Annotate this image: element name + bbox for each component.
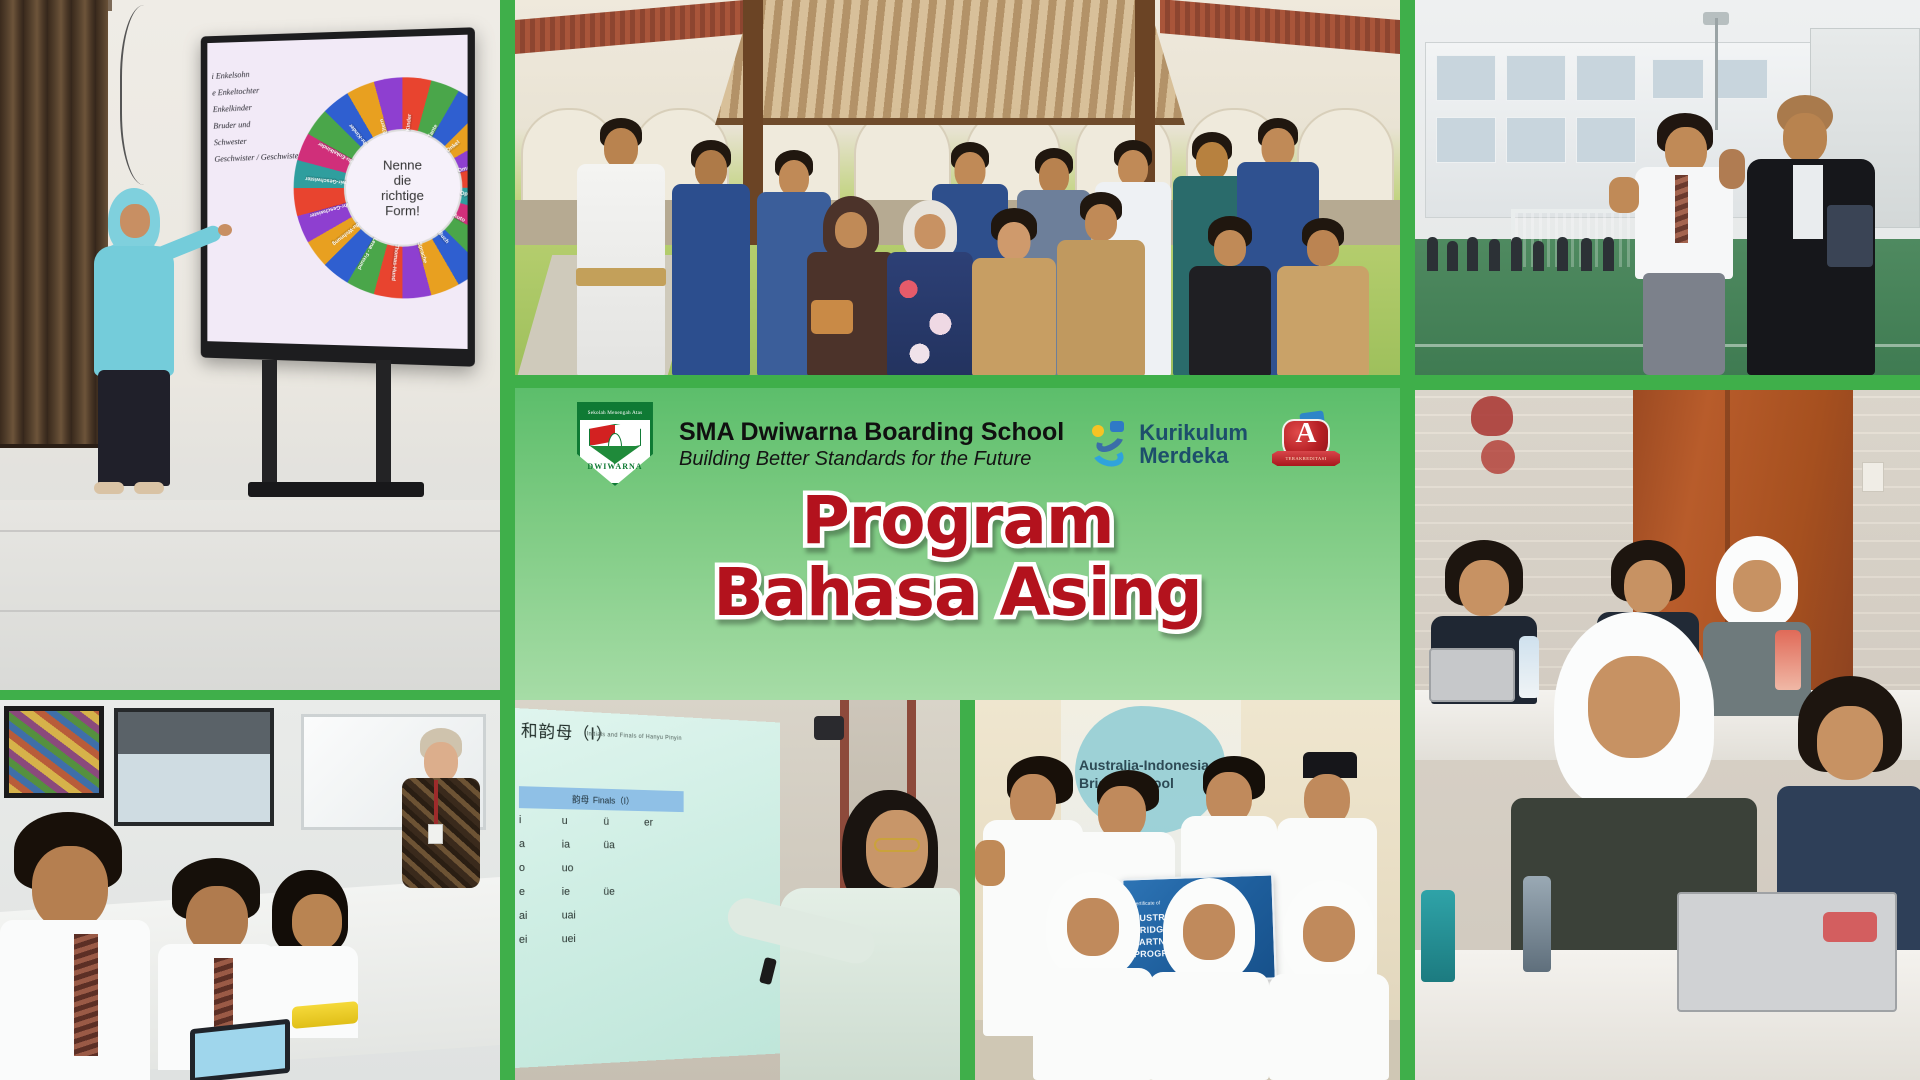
brand-bar: Sekolah Menengah Atas DWIWARNA SMA Dwiwa… xyxy=(515,402,1400,486)
projection-screen: 和韵母（I） Initials and Finals of Hanyu Piny… xyxy=(515,708,780,1068)
photo-japan-school-visit xyxy=(1415,0,1920,375)
laptop-sticker xyxy=(1823,912,1877,942)
table-header-zh: 韵母 xyxy=(572,792,589,805)
pinyin-cell: o xyxy=(519,856,562,880)
pinyin-cell xyxy=(644,926,684,950)
student-black-shirt xyxy=(1187,216,1273,375)
pinyin-row: aiuai xyxy=(519,903,684,928)
photo-german-class: i Enkelsohn e Enkeltochter Enkelkinder B… xyxy=(0,0,500,690)
teacher-japanese xyxy=(970,208,1058,375)
shield-arc-text: DWIWARNA xyxy=(577,462,653,471)
student-uniform-khaki-2 xyxy=(1275,218,1371,375)
pinyin-cell: üe xyxy=(603,880,644,903)
student-hijab-3 xyxy=(1267,880,1391,1080)
pinyin-cell xyxy=(603,857,644,880)
pendopo-ceiling xyxy=(715,0,1185,125)
student-yukata-2 xyxy=(670,140,752,375)
poster-canvas: i Enkelsohn e Enkeltochter Enkelkinder B… xyxy=(0,0,1920,1080)
km-line1: Kurikulum xyxy=(1139,421,1248,444)
kurikulum-merdeka-mark-icon xyxy=(1090,420,1132,468)
interactive-whiteboard: i Enkelsohn e Enkeltochter Enkelkinder B… xyxy=(201,27,475,367)
pinyin-row: eiuei xyxy=(519,926,684,952)
title-line-2: Bahasa Asing xyxy=(515,560,1400,626)
school-tagline: Building Better Standards for the Future xyxy=(679,447,1064,471)
student-uniform-khaki-1 xyxy=(1055,192,1147,375)
pinyin-cell: ei xyxy=(519,927,562,951)
title-line-1: Program xyxy=(801,482,1113,559)
student-hijab-2 xyxy=(1147,878,1271,1080)
floor xyxy=(0,500,500,690)
wall-decoration-2 xyxy=(1481,440,1515,474)
pinyin-cell: ü xyxy=(603,810,644,834)
whiteboard-stand xyxy=(248,360,418,500)
school-logo-shield: Sekolah Menengah Atas DWIWARNA xyxy=(577,402,653,486)
pinyin-cell: e xyxy=(519,880,562,904)
accreditation-grade: A xyxy=(1274,417,1338,450)
kurikulum-merdeka-logo: Kurikulum Merdeka xyxy=(1090,420,1248,468)
school-name: SMA Dwiwarna Boarding School xyxy=(679,418,1064,447)
wall-speaker xyxy=(814,716,844,740)
wall-poster xyxy=(4,706,104,798)
pinyin-cell: uei xyxy=(562,927,604,951)
title-panel: Sekolah Menengah Atas DWIWARNA SMA Dwiwa… xyxy=(515,388,1400,700)
pinyin-row: ouo xyxy=(519,856,684,880)
pinyin-cell: ai xyxy=(519,904,562,928)
shield-cap-text: Sekolah Menengah Atas xyxy=(580,405,650,420)
pinyin-cell: ia xyxy=(562,833,604,857)
student-kimono-floral xyxy=(885,200,975,375)
accreditation-ribbon: TERAKREDITASI xyxy=(1272,451,1340,466)
spectators xyxy=(1421,215,1621,271)
guest-teacher xyxy=(396,728,486,918)
pinyin-cell xyxy=(603,926,644,950)
pinyin-cell: a xyxy=(519,832,562,856)
pinyin-row: eieüe xyxy=(519,880,684,904)
pinyin-cell: uai xyxy=(562,904,604,928)
pinyin-cell: uo xyxy=(562,856,604,880)
photo-exchange-classroom xyxy=(1415,390,1920,1080)
pinyin-cell: üa xyxy=(603,834,644,858)
student-front xyxy=(0,812,150,1080)
pinyin-cell: u xyxy=(562,809,604,833)
mandarin-teacher xyxy=(770,780,960,1080)
photo-japanese-yukata-group xyxy=(515,0,1400,375)
school-official xyxy=(1741,95,1891,375)
accreditation-badge: A TERAKREDITASI xyxy=(1274,413,1338,475)
german-teacher xyxy=(86,188,218,498)
pinyin-cell: ie xyxy=(562,880,604,904)
km-line2: Merdeka xyxy=(1139,444,1248,467)
pinyin-row: iuüer xyxy=(519,808,684,835)
brand-text-block: SMA Dwiwarna Boarding School Building Be… xyxy=(679,418,1064,471)
pinyin-cell: er xyxy=(644,811,684,835)
water-bottle-teal xyxy=(1421,890,1455,982)
laptop-back xyxy=(1429,648,1515,702)
pinyin-cell xyxy=(644,834,684,857)
pinyin-cell xyxy=(603,903,644,927)
photo-australia-indonesia-program: Australia-Indonesia Bridge School xyxy=(975,700,1400,1080)
power-cable xyxy=(120,5,180,185)
table-header-en: Finals（I） xyxy=(593,793,634,807)
tablet-device xyxy=(190,1019,290,1080)
whiteboard-screen: i Enkelsohn e Enkeltochter Enkelkinder B… xyxy=(207,35,467,349)
spinner-wheel: Nenne die richtige Form! Thomas-HundLena… xyxy=(294,75,468,301)
pinyin-cell xyxy=(644,857,684,880)
student-hijab-brown xyxy=(805,196,897,375)
pinyin-row: aiaüa xyxy=(519,832,684,858)
photo-mandarin-class: 和韵母（I） Initials and Finals of Hanyu Piny… xyxy=(515,700,960,1080)
window xyxy=(114,708,274,826)
page-title: Program Bahasa Asing xyxy=(515,488,1400,626)
pinyin-table-body: iuüeraiaüaouoeieüeaiuaieiuei xyxy=(519,808,684,952)
student-yukata-1 xyxy=(575,118,667,375)
pinyin-cell: i xyxy=(519,808,562,833)
slide-title-chinese: 和韵母（I） xyxy=(521,716,613,745)
light-switch xyxy=(1862,462,1884,492)
wall-decoration-1 xyxy=(1471,396,1513,436)
laptop-front xyxy=(1677,892,1897,1012)
kurikulum-merdeka-text: Kurikulum Merdeka xyxy=(1139,421,1248,467)
pinyin-cell xyxy=(644,880,684,903)
photo-classroom-guest-teacher xyxy=(0,700,500,1080)
water-bottle-front xyxy=(1523,876,1551,972)
student-waving xyxy=(1623,107,1747,375)
whiteboard-base xyxy=(248,482,424,497)
pinyin-cell xyxy=(644,903,684,926)
student-hijab-1 xyxy=(1031,872,1155,1080)
